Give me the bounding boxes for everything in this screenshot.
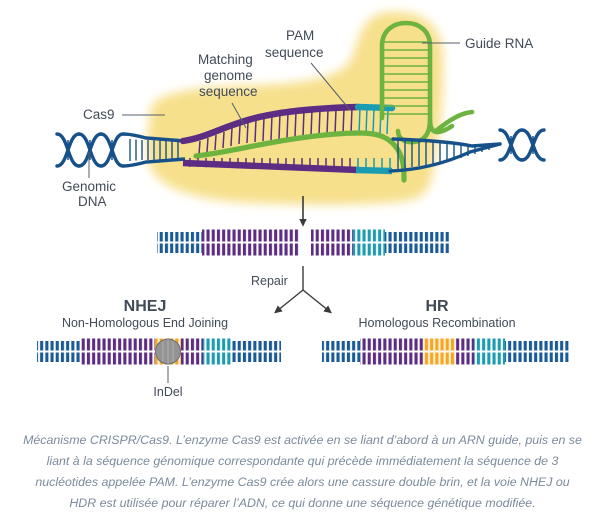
label-hr-abbr: HR bbox=[425, 298, 449, 315]
label-pam-line2: sequence bbox=[265, 45, 324, 60]
label-nhej-abbr: NHEJ bbox=[124, 298, 167, 315]
repair-branch: Repair bbox=[251, 266, 329, 311]
repair-arrow-hr bbox=[303, 290, 329, 311]
hr-dna-strand bbox=[322, 339, 569, 365]
label-hr-full: Homologous Recombination bbox=[358, 316, 515, 330]
nhej-dna-strand bbox=[37, 339, 281, 365]
cut-fragment-left bbox=[157, 230, 299, 256]
label-indel: InDel bbox=[153, 385, 182, 399]
label-nhej-full: Non-Homologous End Joining bbox=[62, 316, 228, 330]
nhej-panel: NHEJ Non-Homologous End Joining bbox=[37, 298, 281, 399]
label-matching-line3: sequence bbox=[199, 84, 258, 99]
hr-panel: HR Homologous Recombination bbox=[322, 298, 569, 365]
genomic-dna-right-helix bbox=[500, 130, 544, 160]
cut-fragment-right bbox=[311, 230, 450, 256]
label-pam-line1: PAM bbox=[286, 28, 314, 43]
repair-arrow-nhej bbox=[277, 290, 303, 311]
label-matching-line1: Matching bbox=[198, 52, 253, 67]
label-genomic-dna-line1: Genomic bbox=[62, 179, 116, 194]
label-repair: Repair bbox=[251, 274, 288, 288]
figure-caption: Mécanisme CRISPR/Cas9. L’enzyme Cas9 est… bbox=[0, 412, 605, 532]
crispr-mechanism-figure: Cas9 Genomic DNA Matching genome sequenc… bbox=[0, 0, 605, 412]
label-cas9: Cas9 bbox=[83, 107, 115, 122]
genomic-dna-left-rungs bbox=[68, 140, 112, 160]
label-guide-rna: Guide RNA bbox=[465, 36, 533, 51]
label-matching-line2: genome bbox=[204, 68, 253, 83]
label-genomic-dna-line2: DNA bbox=[78, 194, 107, 209]
crispr-diagram-svg: Cas9 Genomic DNA Matching genome sequenc… bbox=[0, 0, 605, 412]
